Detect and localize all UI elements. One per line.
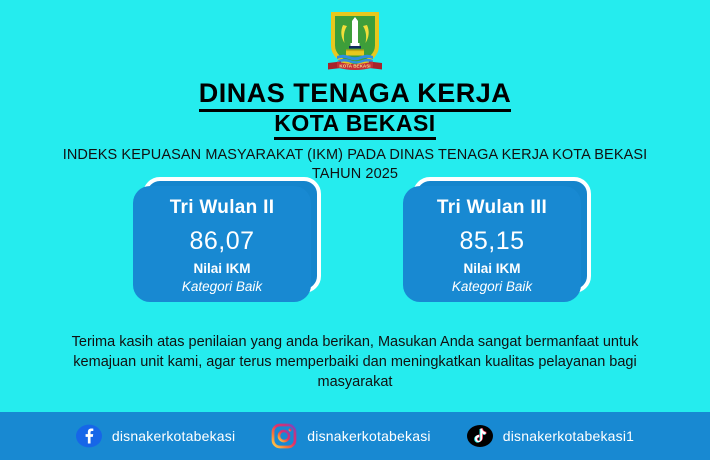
ikm-score-cards: Tri Wulan II 86,07 Nilai IKM Kategori Ba…	[0, 186, 710, 321]
thank-you-message: Terima kasih atas penilaian yang anda be…	[60, 332, 650, 392]
tiktok-handle[interactable]: disnakerkotabekasi1	[503, 428, 634, 444]
social-tiktok[interactable]: disnakerkotabekasi1	[467, 423, 634, 449]
ikm-card-tri-wulan-3: Tri Wulan III 85,15 Nilai IKM Kategori B…	[403, 186, 581, 302]
social-footer-bar: disnakerkotabekasi disnakerkotabekasi	[0, 412, 710, 460]
bekasi-city-emblem: KOTA BEKASI	[0, 6, 710, 74]
card-category: Kategori Baik	[452, 278, 532, 295]
tiktok-icon[interactable]	[467, 423, 493, 449]
card-title: Tri Wulan II	[170, 196, 275, 220]
bekasi-city-emblem-svg: KOTA BEKASI	[319, 6, 391, 74]
page-title-line1: DINAS TENAGA KERJA	[0, 78, 710, 109]
emblem-ribbon-text: KOTA BEKASI	[339, 63, 370, 68]
page-title-line1-text: DINAS TENAGA KERJA	[199, 78, 512, 112]
ikm-poster: KOTA BEKASI DINAS TENAGA KERJA KOTA BEKA…	[0, 0, 710, 460]
card-front-layer: Tri Wulan II 86,07 Nilai IKM Kategori Ba…	[133, 186, 311, 302]
page-title-line2: KOTA BEKASI	[0, 110, 710, 137]
instagram-handle[interactable]: disnakerkotabekasi	[307, 428, 430, 444]
page-title-line2-text: KOTA BEKASI	[274, 110, 435, 140]
card-category: Kategori Baik	[182, 278, 262, 295]
instagram-icon[interactable]	[271, 423, 297, 449]
facebook-icon[interactable]	[76, 423, 102, 449]
ikm-card-tri-wulan-2: Tri Wulan II 86,07 Nilai IKM Kategori Ba…	[133, 186, 311, 302]
card-label: Nilai IKM	[193, 260, 250, 277]
card-value: 86,07	[189, 226, 254, 256]
social-facebook[interactable]: disnakerkotabekasi	[76, 423, 235, 449]
social-instagram[interactable]: disnakerkotabekasi	[271, 423, 430, 449]
card-label: Nilai IKM	[463, 260, 520, 277]
card-title: Tri Wulan III	[437, 196, 547, 220]
facebook-handle[interactable]: disnakerkotabekasi	[112, 428, 235, 444]
card-front-layer: Tri Wulan III 85,15 Nilai IKM Kategori B…	[403, 186, 581, 302]
card-value: 85,15	[459, 226, 524, 256]
